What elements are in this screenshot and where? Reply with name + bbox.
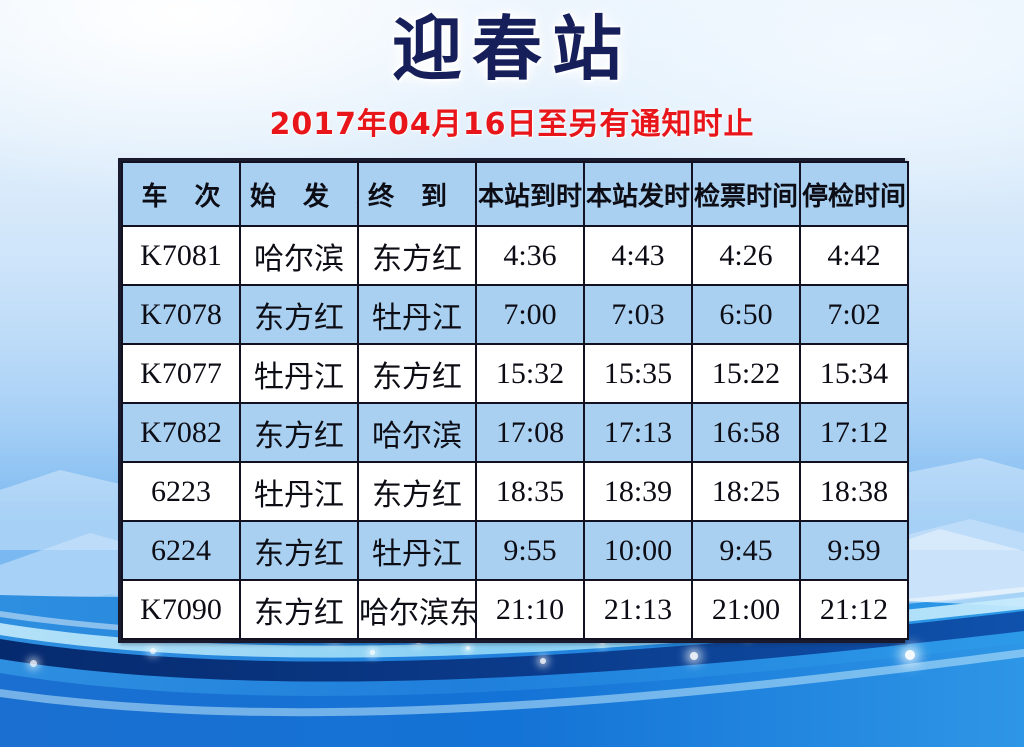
cell-train-no: 6224 <box>122 521 240 580</box>
cell-train-no: K7082 <box>122 403 240 462</box>
cell-check-stop: 9:59 <box>800 521 908 580</box>
cell-ticket-check: 18:25 <box>692 462 800 521</box>
cell-departure: 15:35 <box>584 344 692 403</box>
table-row: K7077牡丹江东方红15:3215:3515:2215:34 <box>122 344 908 403</box>
cell-check-stop: 18:38 <box>800 462 908 521</box>
cell-arrival: 21:10 <box>476 580 584 639</box>
poster-canvas: 迎春站 2017年04月16日至另有通知时止 车 次 始 发 站 终 到 站 本… <box>0 0 1024 747</box>
column-header-origin: 始 发 站 <box>240 162 358 226</box>
cell-train-no: K7090 <box>122 580 240 639</box>
station-title: 迎春站 <box>0 14 1024 84</box>
cell-departure: 4:43 <box>584 226 692 285</box>
timetable-container: 车 次 始 发 站 终 到 站 本站到时 本站发时 检票时间 停检时间 K708… <box>118 158 905 643</box>
cell-destination: 牡丹江 <box>358 285 476 344</box>
cell-origin: 哈尔滨 <box>240 226 358 285</box>
cell-check-stop: 15:34 <box>800 344 908 403</box>
cell-departure: 18:39 <box>584 462 692 521</box>
cell-destination: 东方红 <box>358 344 476 403</box>
table-row: 6223牡丹江东方红18:3518:3918:2518:38 <box>122 462 908 521</box>
cell-check-stop: 21:12 <box>800 580 908 639</box>
column-header-arrival: 本站到时 <box>476 162 584 226</box>
table-row: K7090东方红哈尔滨东21:1021:1321:0021:12 <box>122 580 908 639</box>
column-header-train-no: 车 次 <box>122 162 240 226</box>
cell-departure: 17:13 <box>584 403 692 462</box>
cell-arrival: 18:35 <box>476 462 584 521</box>
column-header-ticket-check: 检票时间 <box>692 162 800 226</box>
cell-ticket-check: 21:00 <box>692 580 800 639</box>
header-row: 车 次 始 发 站 终 到 站 本站到时 本站发时 检票时间 停检时间 <box>122 162 908 226</box>
cell-ticket-check: 9:45 <box>692 521 800 580</box>
cell-ticket-check: 6:50 <box>692 285 800 344</box>
cell-arrival: 9:55 <box>476 521 584 580</box>
cell-origin: 东方红 <box>240 285 358 344</box>
table-row: 6224东方红牡丹江9:5510:009:459:59 <box>122 521 908 580</box>
cell-ticket-check: 15:22 <box>692 344 800 403</box>
train-timetable: 车 次 始 发 站 终 到 站 本站到时 本站发时 检票时间 停检时间 K708… <box>121 161 909 640</box>
cell-train-no: K7077 <box>122 344 240 403</box>
cell-arrival: 17:08 <box>476 403 584 462</box>
cell-train-no: 6223 <box>122 462 240 521</box>
cell-train-no: K7078 <box>122 285 240 344</box>
validity-notice: 2017年04月16日至另有通知时止 <box>0 110 1024 140</box>
cell-origin: 牡丹江 <box>240 344 358 403</box>
cell-train-no: K7081 <box>122 226 240 285</box>
cell-origin: 东方红 <box>240 521 358 580</box>
cell-origin: 东方红 <box>240 403 358 462</box>
cell-ticket-check: 16:58 <box>692 403 800 462</box>
cell-check-stop: 7:02 <box>800 285 908 344</box>
column-header-check-stop: 停检时间 <box>800 162 908 226</box>
table-row: K7082东方红哈尔滨17:0817:1316:5817:12 <box>122 403 908 462</box>
timetable-body: K7081哈尔滨东方红4:364:434:264:42K7078东方红牡丹江7:… <box>122 226 908 639</box>
cell-arrival: 4:36 <box>476 226 584 285</box>
cell-departure: 21:13 <box>584 580 692 639</box>
cell-origin: 牡丹江 <box>240 462 358 521</box>
cell-destination: 牡丹江 <box>358 521 476 580</box>
table-row: K7081哈尔滨东方红4:364:434:264:42 <box>122 226 908 285</box>
column-header-departure: 本站发时 <box>584 162 692 226</box>
cell-check-stop: 17:12 <box>800 403 908 462</box>
cell-ticket-check: 4:26 <box>692 226 800 285</box>
cell-check-stop: 4:42 <box>800 226 908 285</box>
cell-origin: 东方红 <box>240 580 358 639</box>
cell-arrival: 7:00 <box>476 285 584 344</box>
column-header-destination: 终 到 站 <box>358 162 476 226</box>
cell-destination: 哈尔滨 <box>358 403 476 462</box>
cell-destination: 哈尔滨东 <box>358 580 476 639</box>
table-row: K7078东方红牡丹江7:007:036:507:02 <box>122 285 908 344</box>
cell-departure: 7:03 <box>584 285 692 344</box>
cell-destination: 东方红 <box>358 226 476 285</box>
cell-destination: 东方红 <box>358 462 476 521</box>
cell-arrival: 15:32 <box>476 344 584 403</box>
cell-departure: 10:00 <box>584 521 692 580</box>
timetable-header: 车 次 始 发 站 终 到 站 本站到时 本站发时 检票时间 停检时间 <box>122 162 908 226</box>
